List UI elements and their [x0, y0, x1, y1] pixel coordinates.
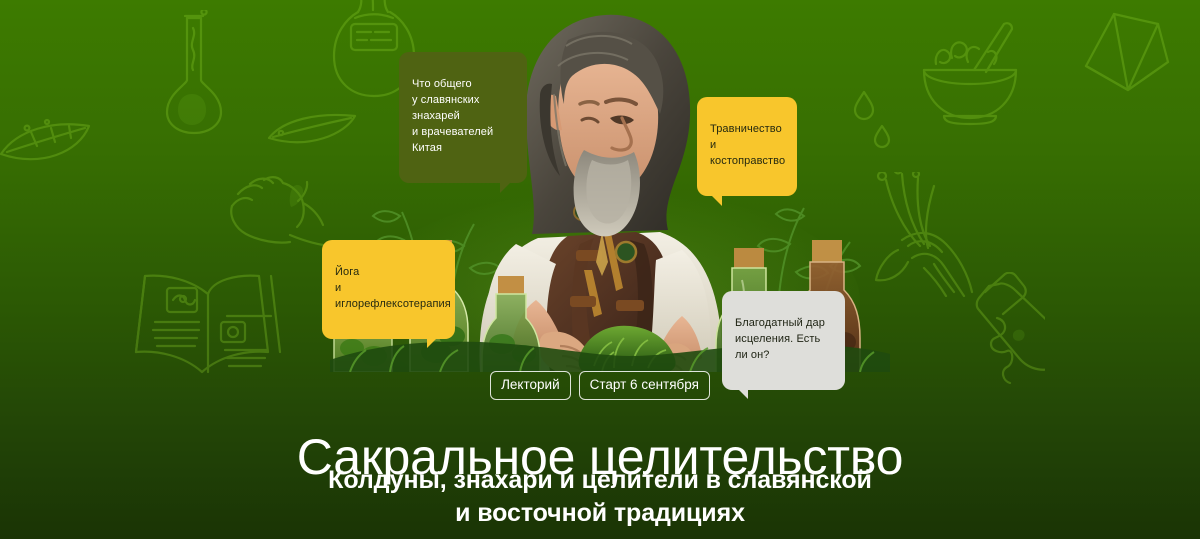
bubble-tail: [500, 182, 511, 193]
hero-banner: Что общего у славянских знахарей и враче…: [0, 0, 1200, 539]
bubble-tail: [711, 195, 722, 206]
leaf-icon: [0, 118, 93, 170]
crystal-icon: [1078, 8, 1174, 94]
speech-bubble-herbalism[interactable]: Травничество и костоправство: [697, 97, 797, 196]
speech-bubble-text: Травничество и костоправство: [710, 123, 785, 167]
open-book-icon: [125, 272, 291, 380]
badge-start-date[interactable]: Старт 6 сентября: [579, 371, 710, 400]
speech-bubble-text: Что общего у славянских знахарей и враче…: [412, 78, 493, 154]
bubble-tail: [427, 338, 437, 348]
open-hand-icon: [228, 168, 336, 248]
speech-bubble-text: Йога и иглорефлексотерапия: [335, 266, 451, 310]
flask-icon: [160, 10, 230, 135]
badge-row: Лекторий Старт 6 сентября: [0, 371, 1200, 400]
speech-bubble-text: Благодатный дар исцеления. Есть ли он?: [735, 317, 825, 361]
mortar-and-pestle-icon: [920, 20, 1020, 128]
badge-format[interactable]: Лекторий: [490, 371, 571, 400]
speech-bubble-yoga[interactable]: Йога и иглорефлексотерапия: [322, 240, 455, 339]
page-subtitle-line-2: и восточной традициях: [0, 497, 1200, 530]
page-subtitle-line-1: Колдуны, знахари и целители в славянской: [0, 464, 1200, 497]
page-subtitle: Колдуны, знахари и целители в славянской…: [0, 464, 1200, 531]
speech-bubble-common-ground[interactable]: Что общего у славянских знахарей и враче…: [399, 52, 527, 183]
